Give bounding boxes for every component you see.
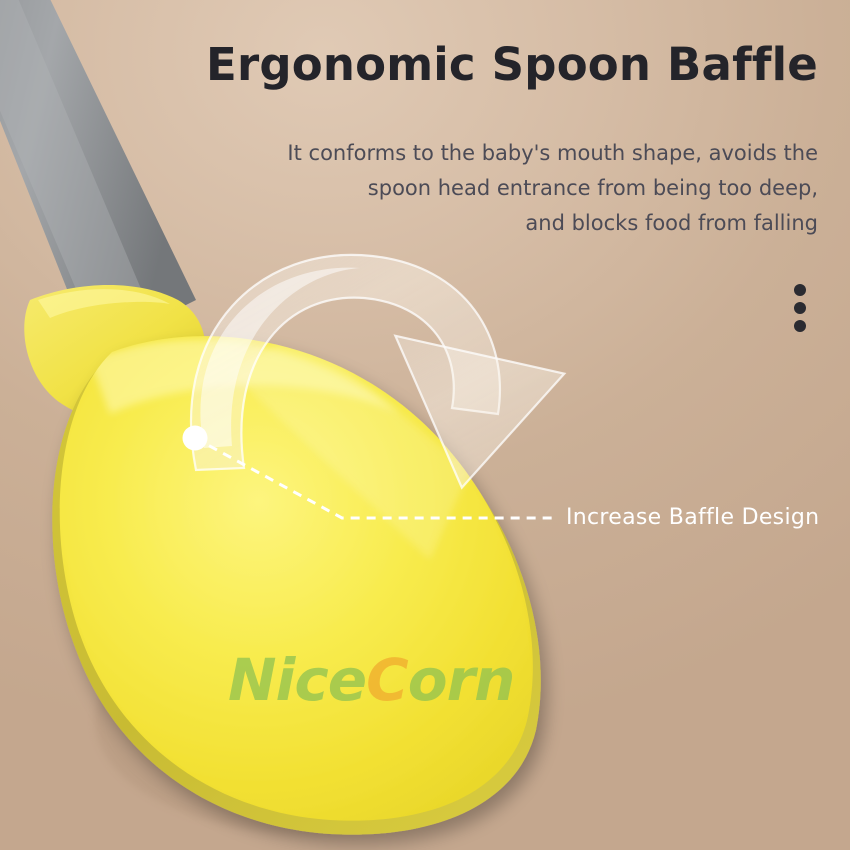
product-feature-image: NiceCorn Ergonomic Spoon Baffle It confo… <box>0 0 850 850</box>
page-title: Ergonomic Spoon Baffle <box>0 38 818 91</box>
subtitle-block: It conforms to the baby's mouth shape, a… <box>258 136 818 241</box>
watermark-part-c: C <box>366 646 408 714</box>
subtitle-line-3: and blocks food from falling <box>258 206 818 241</box>
dot-2 <box>794 302 806 314</box>
spoon-illustration: NiceCorn <box>0 0 850 850</box>
callout-label: Increase Baffle Design <box>566 504 819 532</box>
subtitle-line-1: It conforms to the baby's mouth shape, a… <box>258 136 818 171</box>
more-options-icon[interactable] <box>794 284 808 336</box>
brand-watermark: NiceCorn <box>228 646 514 714</box>
callout-marker-dot <box>183 426 208 451</box>
dot-3 <box>794 320 806 332</box>
watermark-part-orn: orn <box>408 646 515 714</box>
subtitle-line-2: spoon head entrance from being too deep, <box>258 171 818 206</box>
watermark-part-nice: Nice <box>228 646 366 714</box>
dot-1 <box>794 284 806 296</box>
svg-text:NiceCorn: NiceCorn <box>228 646 514 714</box>
